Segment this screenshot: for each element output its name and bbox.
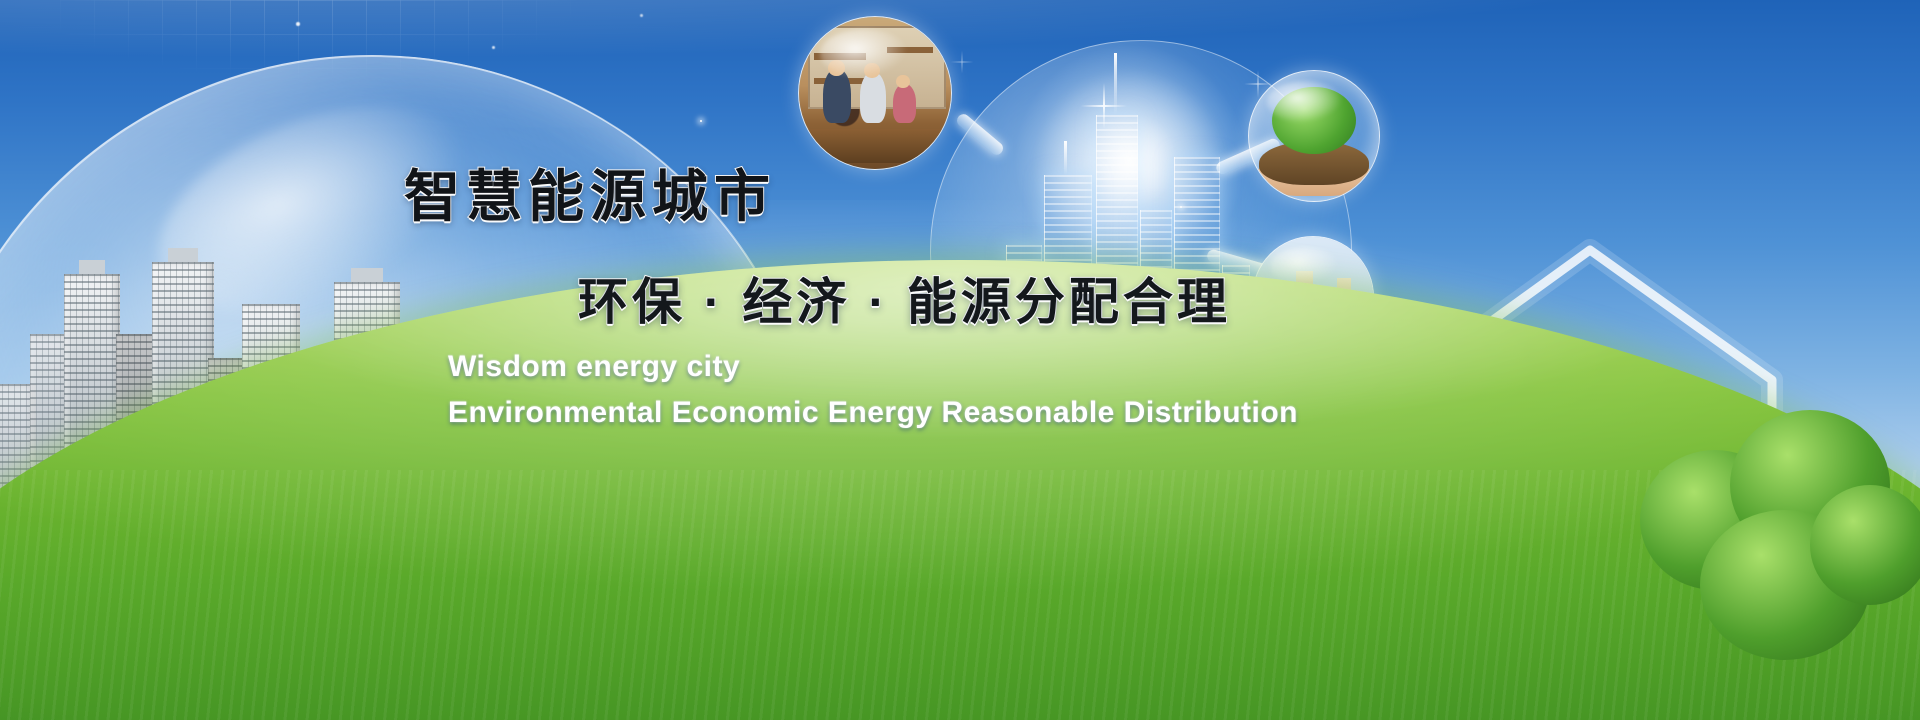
page-title: 智慧能源城市 — [404, 152, 776, 233]
banner-subtitle: 环保 · 经济 · 能源分配合理 — [578, 262, 1231, 334]
tagline-english-secondary: Environmental Economic Energy Reasonable… — [448, 396, 1298, 430]
banner-hero: 智慧能源城市 环保 · 经济 · 能源分配合理 Wisdom energy ci… — [0, 0, 1920, 720]
tagline-english-primary: Wisdom energy city — [448, 350, 740, 384]
banner-text-block: 智慧能源城市 环保 · 经济 · 能源分配合理 Wisdom energy ci… — [0, 0, 1920, 720]
